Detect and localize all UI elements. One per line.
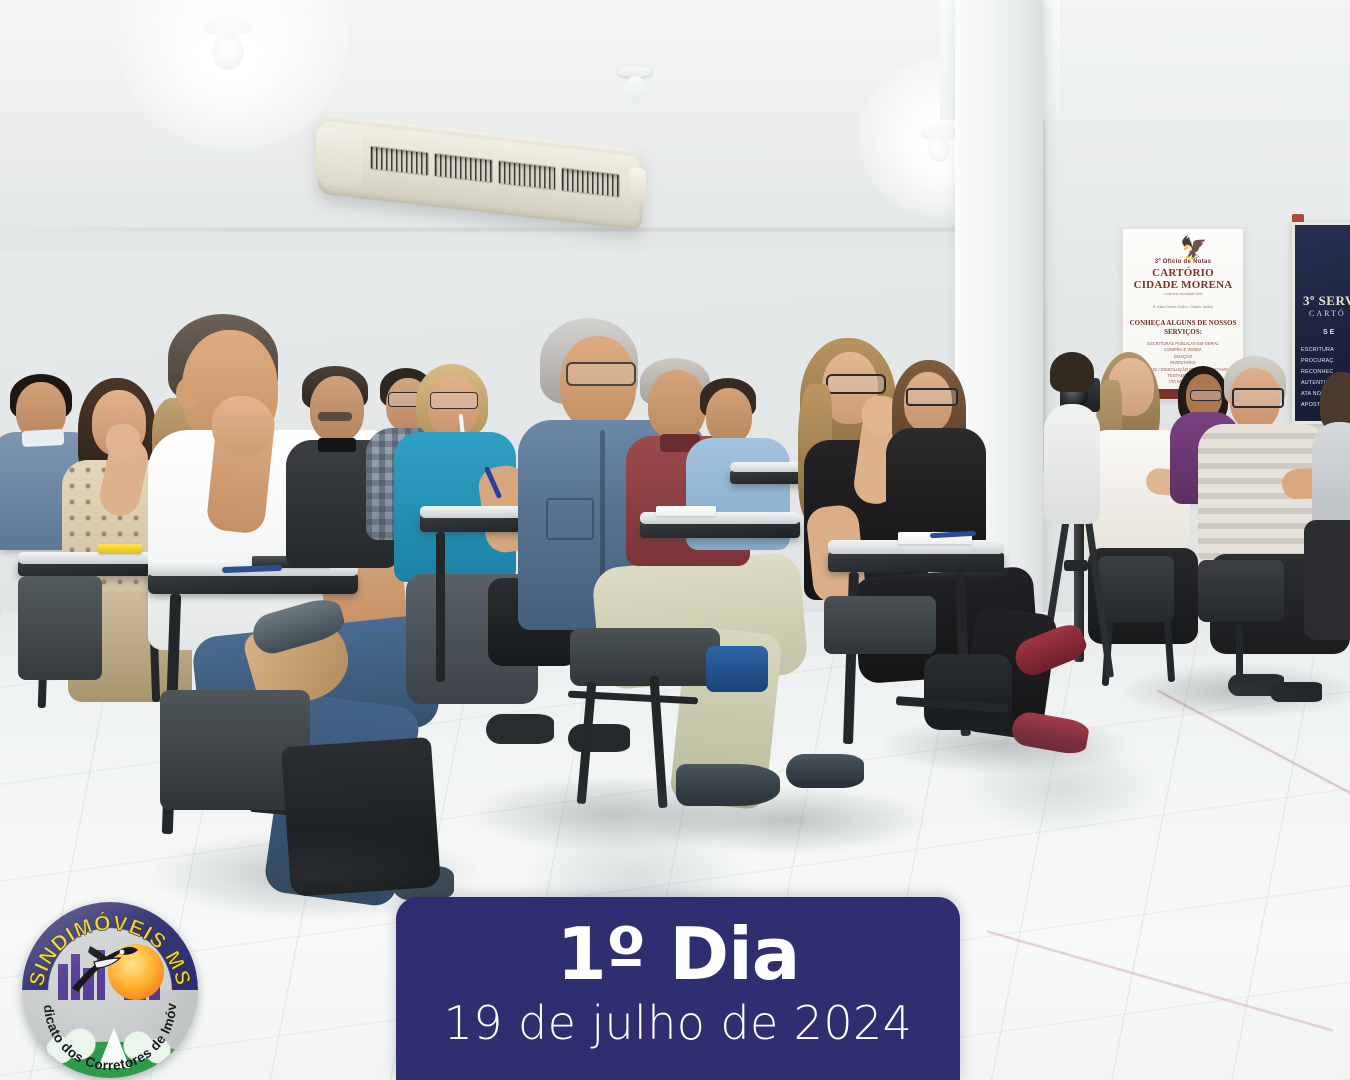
desk-surface: [18, 552, 164, 564]
blue-poster-service-item: PROCURAÇ: [1301, 356, 1334, 367]
glasses: [826, 374, 886, 394]
shirt-pocket: [546, 498, 594, 540]
poster-title-line1: CARTÓRIO: [1123, 267, 1243, 279]
desk-leg: [436, 532, 445, 682]
hair: [1050, 352, 1094, 392]
poster-tagline: o cartório da cidade feliz: [1123, 292, 1243, 296]
sindimoveis-ms-logo: SINDIMÓVEIS MS Sindicato dos Corretores …: [22, 902, 198, 1078]
blue-poster-service-item: ESCRITURA: [1301, 345, 1334, 356]
ear: [176, 378, 198, 408]
ceiling-light-bulb-mid: [624, 76, 646, 104]
ac-side-cap: [316, 125, 362, 188]
svg-text:SINDIMÓVEIS MS: SINDIMÓVEIS MS: [25, 911, 195, 989]
glasses: [1232, 388, 1284, 408]
head: [310, 376, 364, 442]
chair-back: [1198, 560, 1284, 622]
chair-back: [1098, 556, 1174, 622]
poster-address: R. Alan Kardec Dutra • Cidade Jardim: [1123, 305, 1243, 309]
blue-bag: [706, 646, 768, 692]
glasses: [430, 392, 478, 409]
poster-eyebrow: 3º Ofício de Notas: [1123, 259, 1243, 265]
chair-back: [18, 576, 102, 680]
ac-end-cap: [630, 167, 646, 205]
head: [706, 388, 752, 444]
event-banner: 1º Dia 19 de julho de 2024: [396, 897, 960, 1080]
ceiling-light-bulb-right: [928, 137, 950, 162]
blue-poster-title-line1: 3º SERV: [1303, 293, 1350, 309]
glasses: [566, 362, 636, 386]
logo-top-text: SINDIMÓVEIS MS: [25, 911, 195, 989]
event-photo: 🦅 3º Ofício de Notas CARTÓRIO CIDADE MOR…: [0, 0, 1350, 1080]
blue-poster-heading: SE: [1323, 329, 1336, 336]
floor-shadow: [1120, 664, 1350, 718]
hand: [106, 424, 140, 458]
hand-on-chin: [212, 396, 274, 456]
chair-seat: [570, 628, 720, 686]
banner-title: 1º Dia: [557, 913, 800, 995]
paper-sheet: [656, 506, 716, 516]
shoe: [568, 724, 630, 752]
torso: [1312, 422, 1350, 532]
shoe: [786, 754, 864, 788]
chair-seat: [824, 596, 936, 654]
floor-reflection: [960, 740, 1160, 836]
poster-title-line2: CIDADE MORENA: [1123, 279, 1243, 291]
tripod-clamp: [1064, 560, 1088, 571]
shoe: [486, 714, 554, 744]
ceiling-light-base-left: [205, 18, 251, 34]
collar: [318, 438, 356, 452]
mustache: [318, 412, 352, 421]
head: [648, 370, 706, 440]
logo-curved-text: SINDIMÓVEIS MS Sindicato dos Corretores …: [22, 902, 198, 1078]
blue-poster-title-line2: CARTÓ: [1309, 309, 1346, 318]
polo-collar: [22, 429, 65, 447]
lap: [1304, 520, 1350, 640]
banner-date: 19 de julho de 2024: [444, 995, 913, 1051]
eagle-icon: 🦅: [1167, 235, 1221, 261]
glasses: [1190, 390, 1222, 401]
poster-services-heading: CONHEÇA ALGUNS DE NOSSOS SERVIÇOS:: [1123, 319, 1243, 337]
ceiling-light-bulb-left: [212, 34, 244, 70]
torso: [1044, 404, 1100, 524]
desk: [828, 552, 1004, 572]
highlighter: [98, 544, 142, 554]
glasses: [906, 388, 958, 406]
